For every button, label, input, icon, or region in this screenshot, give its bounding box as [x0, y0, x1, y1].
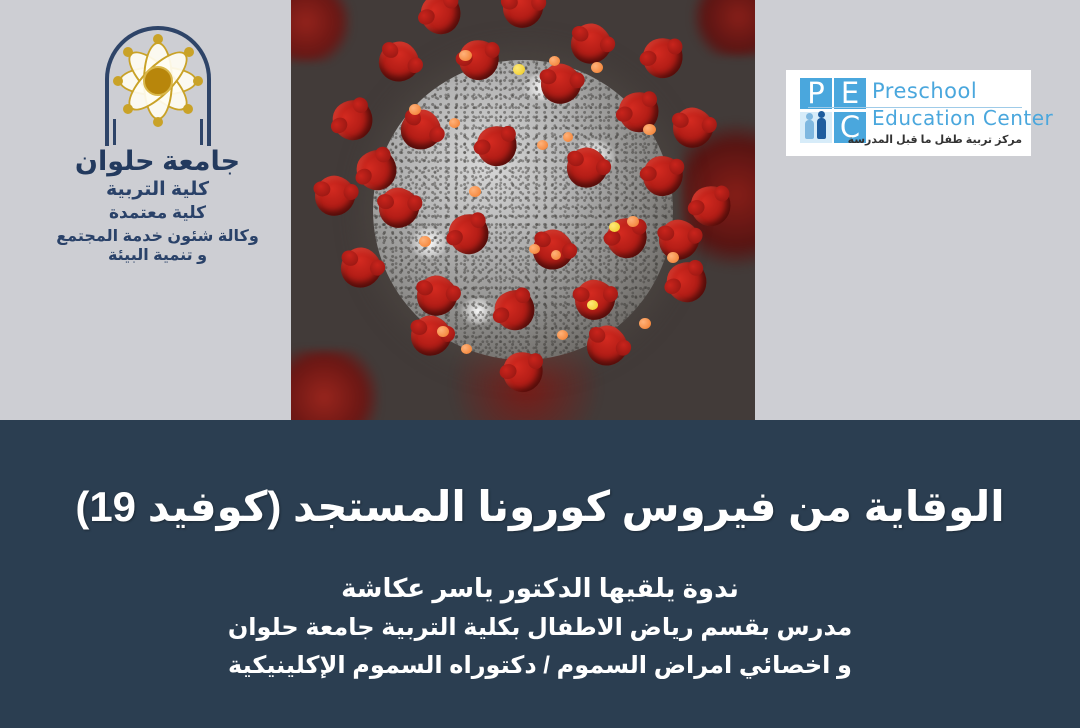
university-faculty: كلية التربية	[40, 178, 275, 201]
pec-cell-e: E	[834, 78, 866, 109]
membrane-protein	[537, 140, 548, 150]
membrane-protein	[551, 250, 561, 260]
spike-protein	[371, 34, 427, 90]
university-agency-line1: وكالة شئون خدمة المجتمع	[40, 227, 275, 247]
atom-nucleus	[143, 66, 173, 96]
spike-protein	[500, 0, 546, 31]
membrane-highlight	[461, 298, 495, 324]
envelope-protein	[609, 222, 620, 232]
spike-protein	[325, 92, 381, 148]
pec-cell-p: P	[800, 78, 832, 109]
pec-word-education-center: Education Center	[872, 105, 1022, 132]
atom-icon	[113, 36, 203, 126]
page-title: الوقاية من فيروس كورونا المستجد (كوفيد 1…	[0, 482, 1080, 532]
envelope-protein	[587, 300, 598, 310]
university-accreditation: كلية معتمدة	[40, 203, 275, 224]
membrane-protein	[437, 326, 449, 337]
membrane-protein	[459, 50, 472, 61]
atom-electron	[193, 76, 203, 86]
speaker-credentials: و اخصائي امراض السموم / دكتوراه السموم ا…	[0, 650, 1080, 681]
speaker-name: ندوة يلقيها الدكتور ياسر عكاشة	[0, 572, 1080, 605]
atom-electron	[123, 47, 133, 57]
membrane-protein	[529, 244, 540, 254]
envelope-protein	[513, 64, 525, 75]
child-figure-icon	[805, 120, 814, 139]
atom-electron	[184, 47, 194, 57]
membrane-protein	[591, 62, 603, 73]
membrane-protein	[461, 344, 472, 354]
pec-letter-e: E	[834, 78, 866, 109]
child-figure-icon	[817, 118, 826, 139]
university-name: جامعة حلوان	[40, 147, 275, 177]
membrane-protein	[643, 124, 656, 135]
membrane-protein	[639, 318, 651, 329]
poster-root: جامعة حلوان كلية التربية كلية معتمدة وكا…	[0, 0, 1080, 728]
pec-cell-children-icon	[800, 112, 832, 143]
spike-protein	[564, 17, 619, 72]
atom-electron	[183, 104, 193, 114]
pec-divider	[808, 107, 1022, 108]
membrane-protein	[449, 118, 460, 128]
coronavirus-image	[291, 0, 755, 420]
pec-letter-p: P	[800, 78, 832, 109]
pec-logo: P E C Preschool Educatio	[786, 70, 1031, 156]
membrane-protein	[627, 216, 639, 227]
membrane-protein	[557, 330, 568, 340]
membrane-protein	[419, 236, 431, 247]
university-agency-line2: و تنمية البيئة	[40, 246, 275, 266]
atom-electron	[123, 104, 133, 114]
speaker-affiliation: مدرس بقسم رياض الاطفال بكلية التربية جام…	[0, 612, 1080, 643]
pec-word-preschool: Preschool	[872, 78, 1022, 105]
membrane-protein	[549, 56, 560, 66]
pec-wordmark: Preschool Education Center مركز تربية طف…	[872, 78, 1022, 147]
top-band: جامعة حلوان كلية التربية كلية معتمدة وكا…	[0, 0, 1080, 420]
university-logo: جامعة حلوان كلية التربية كلية معتمدة وكا…	[40, 8, 275, 308]
title-panel: الوقاية من فيروس كورونا المستجد (كوفيد 1…	[0, 420, 1080, 728]
spike-protein	[639, 34, 688, 83]
background-particle	[691, 0, 755, 56]
atom-electron	[153, 117, 163, 127]
atom-electron	[153, 34, 163, 44]
atom-electron	[113, 76, 123, 86]
pec-arabic-name: مركز تربية طفل ما قبل المدرسة	[872, 133, 1022, 147]
membrane-protein	[667, 252, 679, 263]
spike-protein	[414, 0, 467, 41]
membrane-protein	[409, 104, 421, 115]
background-particle	[291, 350, 379, 420]
pec-logo-inner: P E C Preschool Educatio	[800, 78, 1020, 148]
membrane-protein	[469, 186, 481, 197]
membrane-protein	[563, 132, 573, 142]
university-emblem-icon	[83, 8, 233, 143]
background-particle	[291, 0, 351, 62]
spike-protein	[311, 172, 360, 221]
